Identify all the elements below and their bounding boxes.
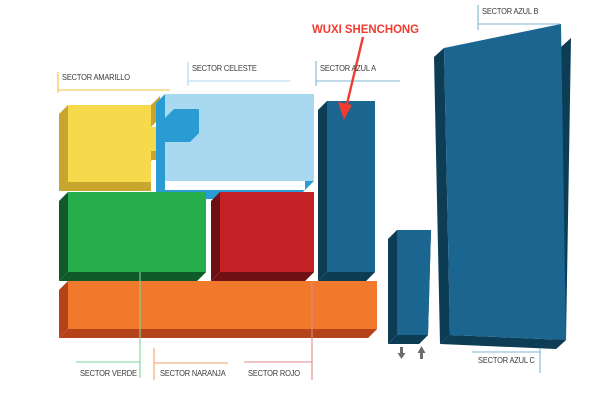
block-sector-celeste[interactable] [156,94,314,199]
label-sector-azul-c: SECTOR AZUL C [478,355,535,365]
label-sector-azul-a: SECTOR AZUL A [320,63,376,73]
block-rojo-top [220,192,314,272]
block-azul-b-top [444,24,566,340]
block-verde-bottom [59,272,206,281]
block-naranja-bottom [59,329,377,338]
down-arrow-icon [398,347,406,359]
block-verde-top [68,192,206,272]
block-amarillo-top [68,105,151,182]
block-azul-a-top [327,101,375,272]
label-sector-azul-b: SECTOR AZUL B [482,6,538,16]
block-sector-azul-c[interactable] [388,230,431,344]
block-amarillo-bottom [59,182,151,191]
block-rojo-bottom [211,272,314,281]
block-sector-rojo[interactable] [211,192,314,281]
up-arrow-icon [418,346,426,359]
block-sector-azul-a[interactable] [318,101,375,281]
block-azul-c-top [397,230,431,335]
block-naranja-top [68,281,377,329]
block-sector-naranja[interactable] [59,281,377,338]
block-verde-side [59,192,68,281]
block-sector-azul-b[interactable] [434,24,571,349]
block-azul-a-side [318,101,327,281]
wuxi-shenchong-annotation: WUXI SHENCHONG [312,22,419,36]
block-rojo-side [211,192,220,281]
block-sector-verde[interactable] [59,192,206,281]
block-azul-c-side [388,230,397,344]
layout-shapes-canvas [0,0,600,400]
label-sector-naranja: SECTOR NARANJA [160,368,226,378]
label-sector-verde: SECTOR VERDE [80,368,137,378]
block-naranja-side [59,281,68,338]
label-sector-rojo: SECTOR ROJO [248,368,300,378]
label-sector-amarillo: SECTOR AMARILLO [62,72,130,82]
factory-layout-diagram: SECTOR AMARILLO SECTOR CELESTE SECTOR AZ… [0,0,600,400]
block-amarillo-side [59,105,68,191]
label-sector-celeste: SECTOR CELESTE [192,63,257,73]
